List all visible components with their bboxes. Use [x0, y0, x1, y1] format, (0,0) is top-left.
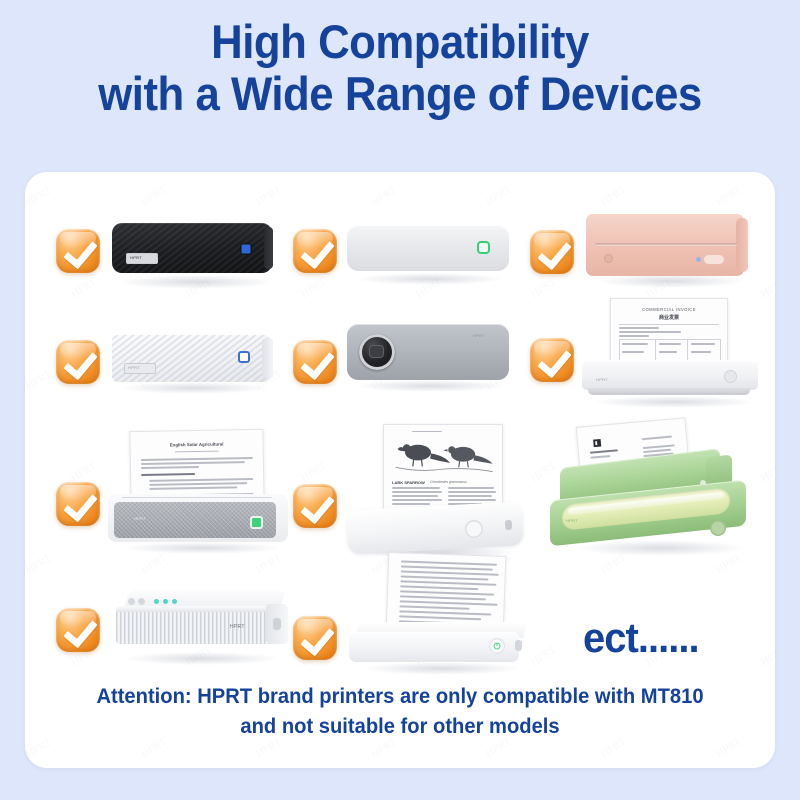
compatibility-note-line2: and not suitable for other models	[40, 712, 760, 742]
check-icon	[293, 340, 337, 384]
brand-label: HPRT	[130, 255, 142, 260]
check-icon	[56, 608, 100, 652]
device-cell[interactable]	[530, 208, 760, 304]
device-cell[interactable]: HPRT	[293, 318, 523, 412]
white-chinese-doc-printer	[347, 554, 543, 678]
compatibility-note: Attention: HPRT brand printers are only …	[40, 682, 760, 742]
etc-label: ect......	[583, 614, 699, 662]
bird-doc-subtitle: Chondestes grammacus	[430, 480, 467, 484]
white-rounded-printer: LARK SPARROW Chondestes grammacus	[347, 424, 543, 564]
check-icon	[56, 229, 100, 273]
page-title-line1: High Compatibility	[28, 16, 772, 68]
pink-printer	[586, 208, 762, 290]
black-carbon-printer: HPRT	[112, 223, 280, 285]
check-icon	[530, 230, 574, 274]
white-slim-printer	[347, 225, 517, 285]
check-icon	[56, 482, 100, 526]
silver-ribbed-printer: HPRT	[112, 586, 298, 668]
poster-root: High Compatibility with a Wide Range of …	[0, 0, 800, 800]
green-printer-pair: HPRT	[550, 412, 775, 560]
device-cell[interactable]: COMMERCIAL INVOICE 商业发票	[530, 298, 770, 416]
device-grid-card: HPRTHPRTHPRTHPRTHPRTHPRTHPRTHPRTHPRTHPRT…	[25, 172, 775, 768]
device-cell[interactable]	[293, 554, 543, 682]
page-title: High Compatibility with a Wide Range of …	[28, 16, 772, 120]
invoice-title: COMMERCIAL INVOICE	[623, 307, 715, 312]
device-cell[interactable]: HPRT	[530, 412, 775, 562]
gray-lens-printer: HPRT	[347, 324, 523, 394]
bird-illustration	[392, 436, 496, 476]
check-icon	[293, 229, 337, 273]
invoice-sheetfed-printer: COMMERCIAL INVOICE 商业发票	[582, 298, 772, 410]
bird-doc-title: LARK SPARROW	[392, 480, 425, 485]
device-cell[interactable]: HPRT	[56, 324, 286, 410]
device-cell[interactable]: HPRT	[56, 213, 286, 299]
white-textured-printer: HPRT	[112, 332, 284, 394]
device-cell[interactable]: English Solar Agricultural	[56, 430, 306, 560]
check-icon	[56, 340, 100, 384]
device-cell[interactable]	[293, 213, 523, 299]
brand-label: HPRT	[128, 365, 140, 370]
page-title-line2: with a Wide Range of Devices	[28, 68, 772, 120]
device-cell[interactable]: LARK SPARROW Chondestes grammacus	[293, 424, 543, 566]
doc-title: English Solar Agricultural	[145, 441, 249, 448]
brand-label: HPRT	[230, 624, 245, 630]
check-icon	[293, 484, 337, 528]
gray-fabric-printer: English Solar Agricultural	[108, 430, 304, 556]
check-icon	[530, 338, 574, 382]
device-cell[interactable]: HPRT	[56, 584, 306, 680]
invoice-subtitle: 商业发票	[623, 314, 715, 321]
compatibility-note-line1: Attention: HPRT brand printers are only …	[40, 682, 760, 712]
check-icon	[293, 616, 337, 660]
device-grid: HPRT	[25, 172, 775, 768]
